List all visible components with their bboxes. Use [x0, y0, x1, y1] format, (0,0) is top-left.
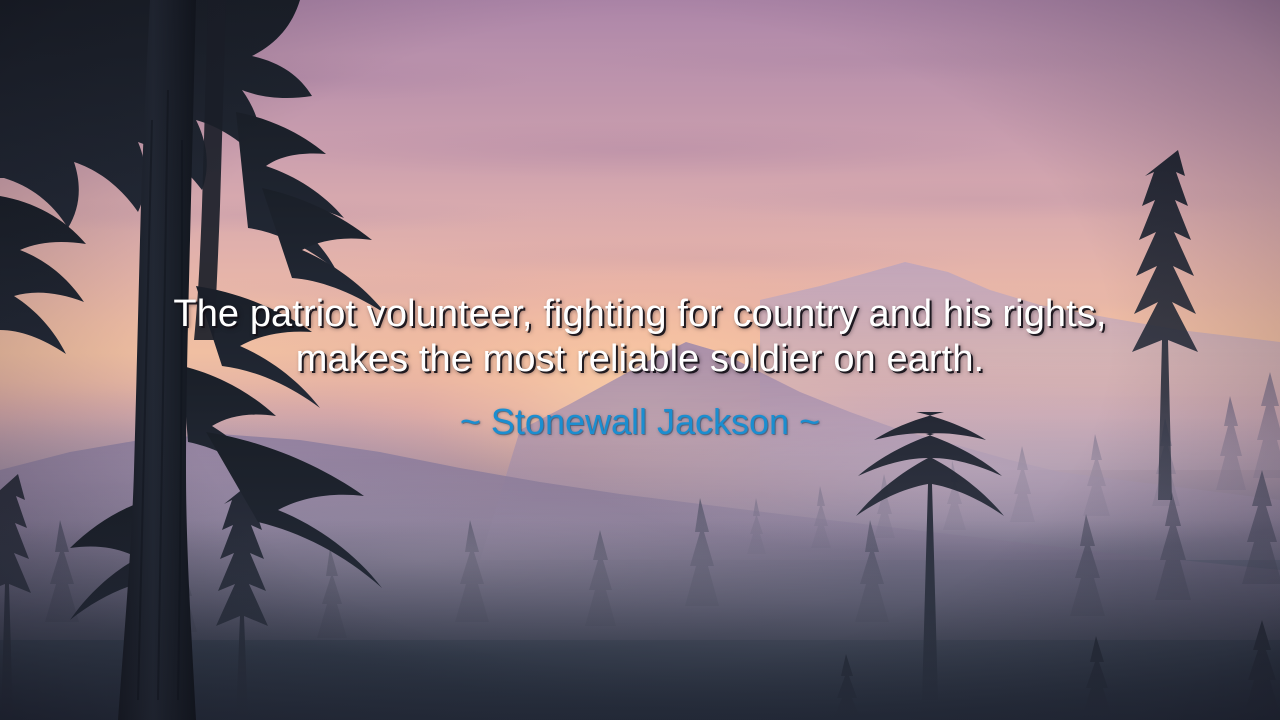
quote-line-2: makes the most reliable soldier on earth…	[0, 337, 1280, 382]
quote-attribution: ~ Stonewall Jackson ~	[0, 400, 1280, 444]
quote-line-1: The patriot volunteer, fighting for coun…	[0, 292, 1280, 337]
quote-image-canvas: The patriot volunteer, fighting for coun…	[0, 0, 1280, 720]
quote-text-block: The patriot volunteer, fighting for coun…	[0, 292, 1280, 444]
